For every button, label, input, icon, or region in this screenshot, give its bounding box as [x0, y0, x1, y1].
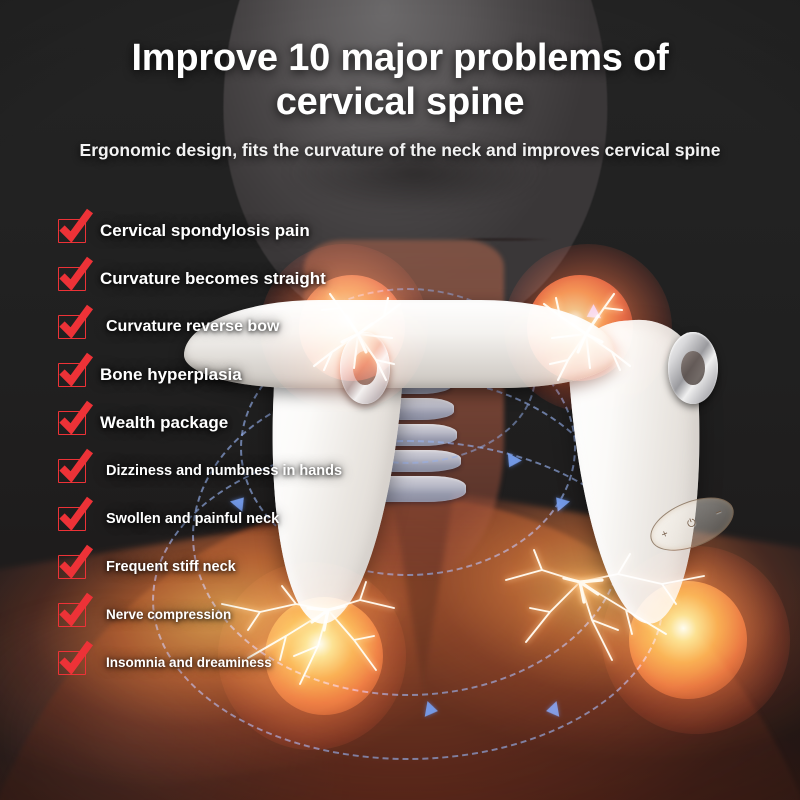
check-mark-icon — [58, 603, 86, 627]
checklist-item-3: Curvature reverse bow — [58, 303, 388, 351]
check-mark-icon — [58, 267, 86, 291]
check-mark-icon — [58, 507, 86, 531]
checklist-item-label: Curvature becomes straight — [100, 269, 326, 288]
checklist-item-label: Swollen and painful neck — [100, 511, 279, 527]
checklist-item-label: Cervical spondylosis pain — [100, 221, 310, 240]
benefits-checklist: Cervical spondylosis painCurvature becom… — [58, 207, 388, 687]
product-poster: + ⏻ − — [0, 0, 800, 800]
checklist-item-label: Curvature reverse bow — [100, 318, 279, 336]
check-mark-icon — [58, 411, 86, 435]
check-mark-icon — [58, 219, 86, 243]
check-mark-icon — [58, 651, 86, 675]
check-mark-icon — [58, 555, 86, 579]
check-mark-icon — [58, 315, 86, 339]
checklist-item-2: Curvature becomes straight — [58, 255, 388, 303]
checklist-item-label: Wealth package — [100, 413, 228, 432]
checklist-item-1: Cervical spondylosis pain — [58, 207, 388, 255]
check-mark-icon — [58, 459, 86, 483]
text-layer: Improve 10 major problems of cervical sp… — [0, 0, 800, 800]
page-subtitle: Ergonomic design, fits the curvature of … — [0, 140, 800, 161]
check-mark-icon — [58, 363, 86, 387]
checklist-item-6: Dizziness and numbness in hands — [58, 447, 388, 495]
checklist-item-8: Frequent stiff neck — [58, 543, 388, 591]
checklist-item-label: Dizziness and numbness in hands — [100, 463, 342, 479]
checklist-item-label: Frequent stiff neck — [100, 559, 236, 575]
checklist-item-7: Swollen and painful neck — [58, 495, 388, 543]
checklist-item-label: Nerve compression — [100, 607, 231, 622]
checklist-item-label: Insomnia and dreaminess — [100, 655, 272, 670]
checklist-item-label: Bone hyperplasia — [100, 365, 242, 384]
checklist-item-4: Bone hyperplasia — [58, 351, 388, 399]
page-title: Improve 10 major problems of cervical sp… — [0, 36, 800, 124]
checklist-item-5: Wealth package — [58, 399, 388, 447]
checklist-item-9: Nerve compression — [58, 591, 388, 639]
checklist-item-10: Insomnia and dreaminess — [58, 639, 388, 687]
